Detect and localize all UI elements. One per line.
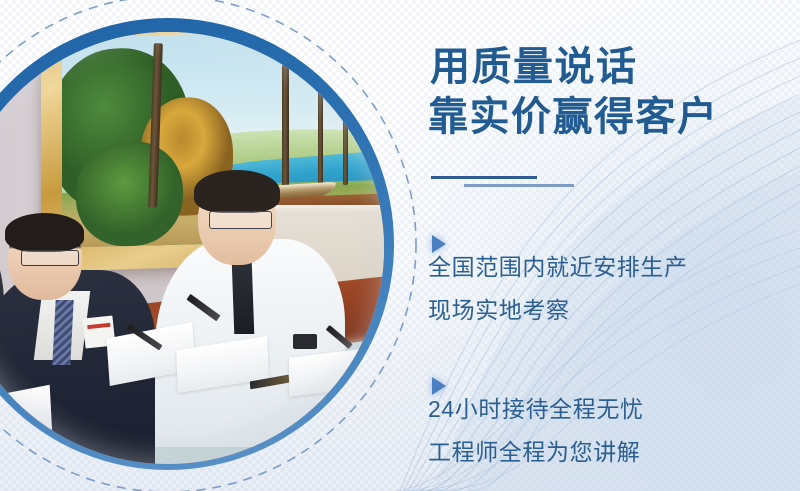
feature-item-2-line-1: 24小时接待全程无忧 xyxy=(428,388,800,431)
divider xyxy=(428,172,800,188)
divider-secondary-line xyxy=(464,184,574,187)
feature-item-1: 全国范围内就近安排生产 现场实地考察 xyxy=(428,228,800,332)
feature-item-2-line-2: 工程师全程为您讲解 xyxy=(428,431,800,474)
feature-item-1-line-2: 现场实地考察 xyxy=(428,289,800,332)
divider-primary-line xyxy=(431,176,537,179)
triangle-arrow-icon xyxy=(432,235,446,253)
headline-line-2: 靠实价赢得客户 xyxy=(428,92,800,142)
photo-image xyxy=(0,32,384,464)
content-panel: 用质量说话 靠实价赢得客户 全国范围内就近安排生产 现场实地考察 24小时接待全… xyxy=(428,0,800,491)
triangle-arrow-icon xyxy=(432,377,446,395)
headline-line-1: 用质量说话 xyxy=(430,42,800,92)
feature-item-1-line-1: 全国范围内就近安排生产 xyxy=(428,246,800,289)
promotional-banner: 用质量说话 靠实价赢得客户 全国范围内就近安排生产 现场实地考察 24小时接待全… xyxy=(0,0,800,491)
feature-item-2: 24小时接待全程无忧 工程师全程为您讲解 xyxy=(428,370,800,474)
headline-block: 用质量说话 靠实价赢得客户 xyxy=(430,42,800,142)
feature-list: 全国范围内就近安排生产 现场实地考察 24小时接待全程无忧 工程师全程为您讲解 xyxy=(428,228,800,474)
circular-photo xyxy=(0,18,394,470)
